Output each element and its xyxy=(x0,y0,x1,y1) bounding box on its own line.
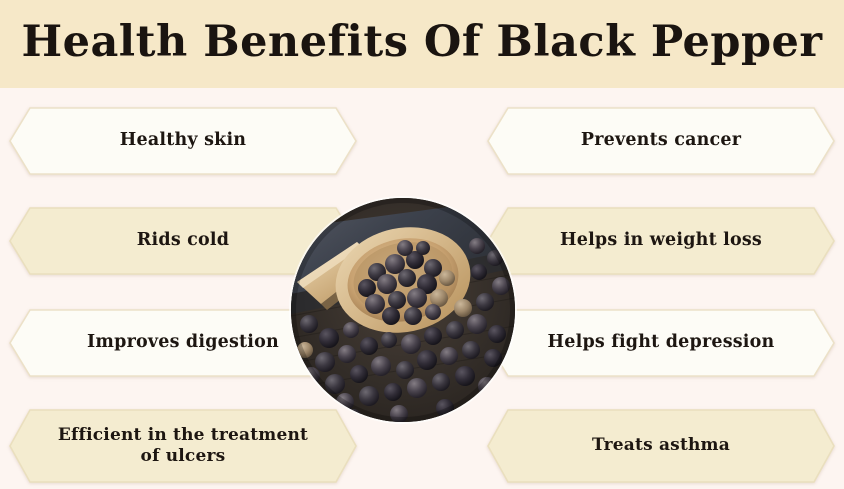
benefit-label-line: of ulcers xyxy=(34,446,332,467)
benefit-label: Efficient in the treatment of ulcers xyxy=(8,425,358,468)
benefit-label: Rids cold xyxy=(8,230,358,252)
benefit-label-line: Improves digestion xyxy=(34,332,332,354)
header-band: Health Benefits Of Black Pepper xyxy=(0,0,844,88)
benefit-banner-left-4: Efficient in the treatment of ulcers xyxy=(8,408,358,484)
benefit-label: Prevents cancer xyxy=(486,130,836,152)
benefit-label: Helps fight depression xyxy=(486,332,836,354)
benefit-label-line: Treats asthma xyxy=(512,435,810,456)
benefit-banner-right-2: Helps in weight loss xyxy=(486,206,836,276)
benefit-label-line: Helps fight depression xyxy=(512,332,810,354)
benefit-label-line: Rids cold xyxy=(34,230,332,252)
benefit-label-line: Efficient in the treatment xyxy=(34,425,332,446)
benefit-banner-right-4: Treats asthma xyxy=(486,408,836,484)
benefit-label-line: Healthy skin xyxy=(34,130,332,152)
infographic-root: Health Benefits Of Black Pepper Healthy … xyxy=(0,0,844,489)
benefit-banner-right-1: Prevents cancer xyxy=(486,106,836,176)
benefit-banner-left-1: Healthy skin xyxy=(8,106,358,176)
page-title: Health Benefits Of Black Pepper xyxy=(21,21,822,67)
benefit-label: Healthy skin xyxy=(8,130,358,152)
benefit-banner-right-3: Helps fight depression xyxy=(486,308,836,378)
benefit-label: Treats asthma xyxy=(486,435,836,456)
benefit-label-line: Prevents cancer xyxy=(512,130,810,152)
benefit-label: Helps in weight loss xyxy=(486,230,836,252)
black-pepper-photo xyxy=(291,198,515,422)
benefit-label-line: Helps in weight loss xyxy=(512,230,810,252)
